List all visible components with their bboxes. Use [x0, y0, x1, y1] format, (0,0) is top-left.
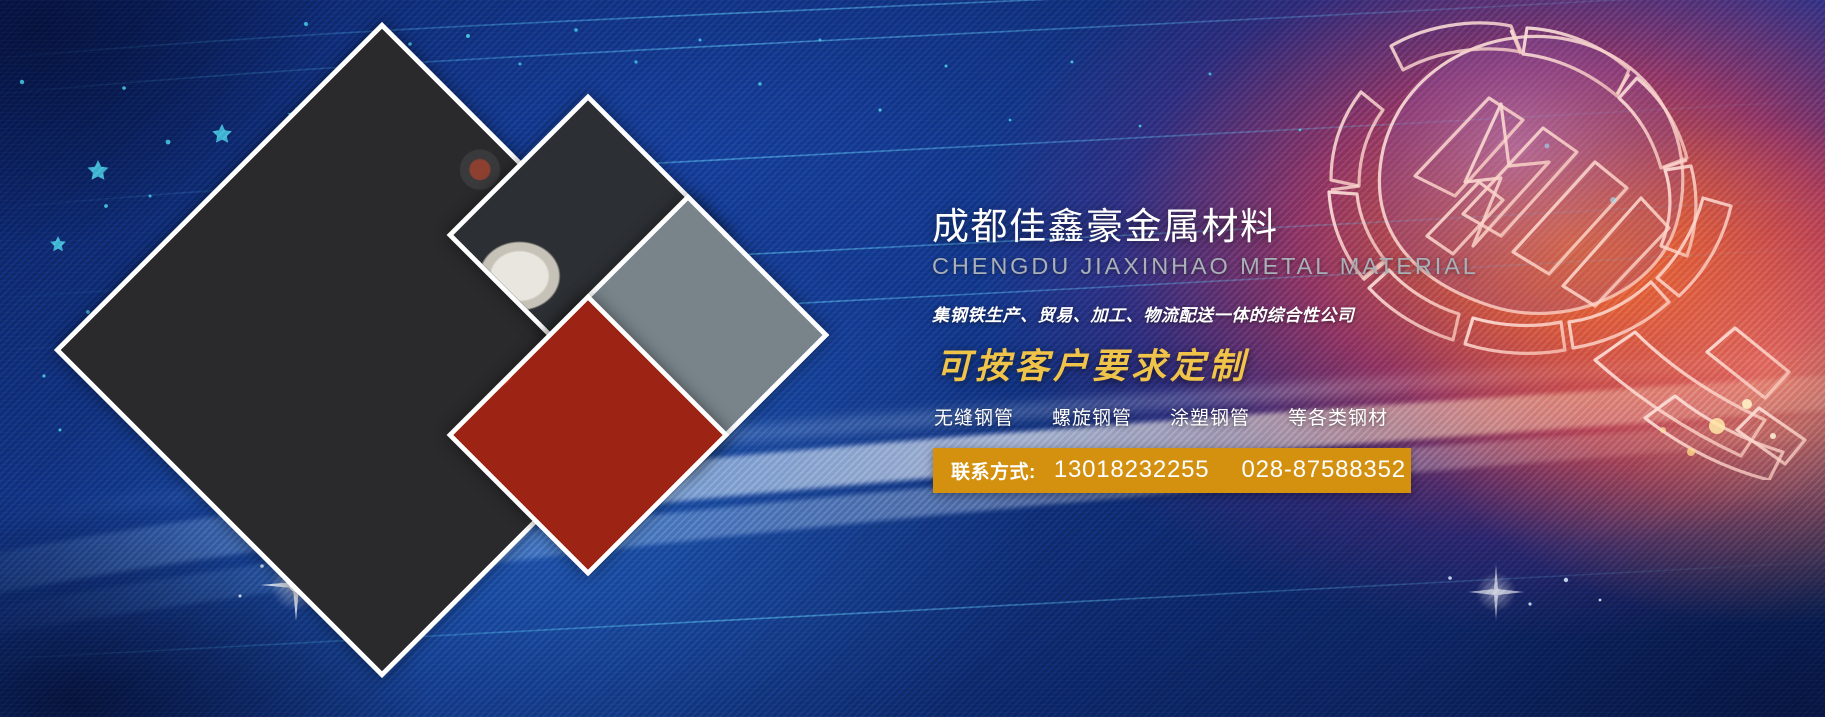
- custom-order-slogan: 可按客户要求定制: [936, 338, 1452, 389]
- product-photo-collage: [0, 0, 900, 640]
- contact-landline[interactable]: 028-87588352: [1241, 456, 1405, 484]
- product-item: 等各类钢材: [1288, 403, 1388, 430]
- promotional-banner: 成都佳鑫豪金属材料 CHENGDU JIAXINHAO METAL MATERI…: [0, 0, 1825, 717]
- marketing-text-block: 成都佳鑫豪金属材料 CHENGDU JIAXINHAO METAL MATERI…: [932, 206, 1452, 493]
- product-item: 涂塑钢管: [1170, 403, 1250, 430]
- company-name-en: CHENGDU JIAXINHAO METAL MATERIAL: [932, 253, 1452, 280]
- contact-mobile[interactable]: 13018232255: [1054, 456, 1210, 484]
- company-name-cn: 成都佳鑫豪金属材料: [932, 206, 1452, 249]
- product-list: 无缝钢管 螺旋钢管 涂塑钢管 等各类钢材: [934, 403, 1452, 430]
- product-item: 螺旋钢管: [1052, 403, 1132, 430]
- company-tagline: 集钢铁生产、贸易、加工、物流配送一体的综合性公司: [932, 301, 1452, 326]
- contact-bar: 联系方式: 13018232255 028-87588352: [933, 448, 1411, 493]
- product-item: 无缝钢管: [934, 403, 1014, 430]
- contact-label: 联系方式:: [951, 457, 1036, 484]
